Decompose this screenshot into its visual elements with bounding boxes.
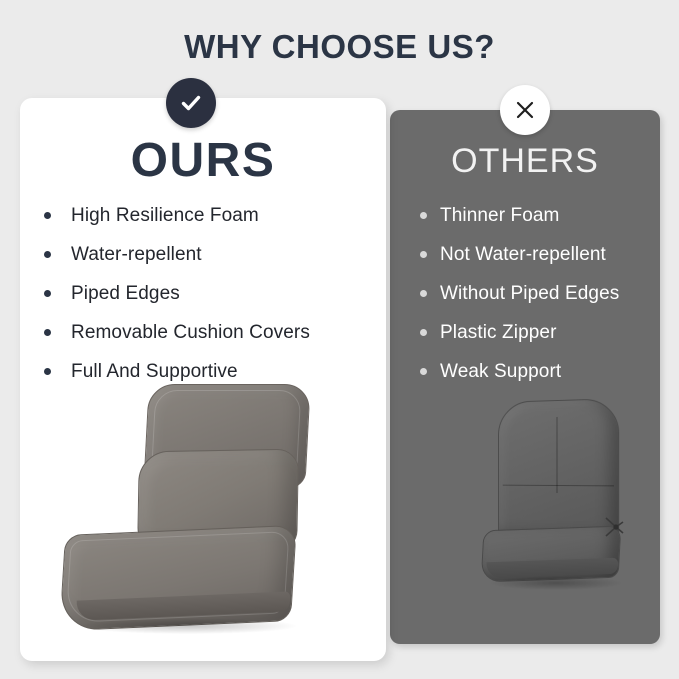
ours-feature-label: Piped Edges — [71, 283, 180, 305]
check-badge — [166, 78, 216, 128]
list-item: Thinner Foam — [420, 196, 660, 235]
list-item: Piped Edges — [44, 274, 374, 313]
ours-feature-label: Full And Supportive — [71, 361, 238, 383]
ours-feature-label: High Resilience Foam — [71, 205, 259, 227]
comparison-area: OURS OTHERS High Resilience Foam Water-r… — [0, 0, 679, 679]
others-feature-label: Weak Support — [440, 361, 561, 383]
bullet-icon — [420, 212, 427, 219]
others-feature-label: Not Water-repellent — [440, 244, 606, 266]
bullet-icon — [44, 368, 51, 375]
ours-heading: OURS — [20, 133, 386, 188]
list-item: Full And Supportive — [44, 352, 374, 391]
bullet-icon — [44, 329, 51, 336]
others-heading: OTHERS — [390, 142, 660, 181]
bullet-icon — [420, 290, 427, 297]
list-item: Weak Support — [420, 352, 660, 391]
bullet-icon — [44, 290, 51, 297]
others-cushion-tie — [604, 516, 624, 538]
others-feature-label: Thinner Foam — [440, 205, 559, 227]
ours-feature-label: Removable Cushion Covers — [71, 322, 310, 344]
bullet-icon — [420, 251, 427, 258]
close-icon — [514, 99, 536, 121]
others-feature-label: Without Piped Edges — [440, 283, 619, 305]
bullet-icon — [44, 251, 51, 258]
bullet-icon — [420, 368, 427, 375]
others-cushion-back — [498, 398, 619, 544]
ours-feature-label: Water-repellent — [71, 244, 202, 266]
others-product-image — [478, 400, 648, 630]
check-icon — [178, 90, 204, 116]
cross-badge — [500, 85, 550, 135]
ours-feature-list: High Resilience Foam Water-repellent Pip… — [44, 196, 374, 391]
list-item: Without Piped Edges — [420, 274, 660, 313]
bullet-icon — [44, 212, 51, 219]
others-feature-list: Thinner Foam Not Water-repellent Without… — [420, 196, 660, 391]
list-item: Water-repellent — [44, 235, 374, 274]
ours-product-shadow — [80, 618, 296, 634]
bullet-icon — [420, 329, 427, 336]
others-feature-label: Plastic Zipper — [440, 322, 557, 344]
list-item: High Resilience Foam — [44, 196, 374, 235]
list-item: Not Water-repellent — [420, 235, 660, 274]
others-product-shadow — [490, 576, 622, 590]
ours-product-image — [58, 382, 358, 644]
list-item: Removable Cushion Covers — [44, 313, 374, 352]
list-item: Plastic Zipper — [420, 313, 660, 352]
